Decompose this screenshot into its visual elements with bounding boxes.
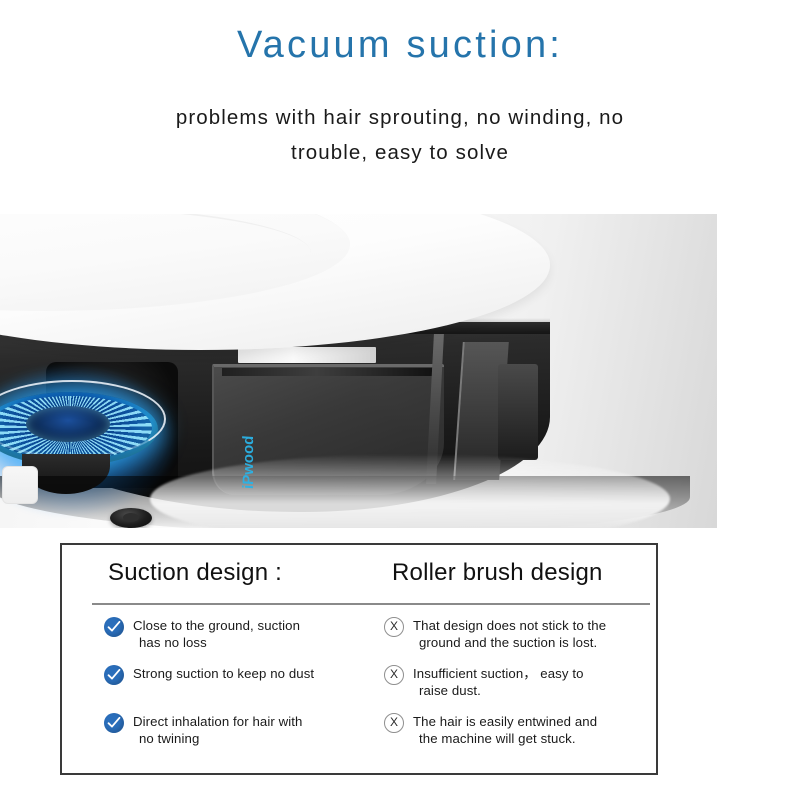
list-item-line-1: Insufficient suction， easy to: [413, 666, 584, 681]
product-marketing-page: Vacuum suction: problems with hair sprou…: [0, 0, 800, 800]
vacuum-side-port: [2, 466, 38, 504]
brand-logo: iPwood: [236, 454, 262, 490]
column-suction: Close to the ground, suction has no loss…: [104, 617, 374, 761]
list-item-text: Close to the ground, suction has no loss: [124, 617, 300, 651]
list-item-text: Strong suction to keep no dust: [124, 665, 314, 682]
cross-icon: X: [384, 713, 404, 733]
list-item: X That design does not stick to the grou…: [384, 617, 648, 651]
list-item-line-2: raise dust.: [413, 682, 584, 699]
photo-right-margin: [717, 214, 800, 528]
list-item-text: Direct inhalation for hair with no twini…: [124, 713, 302, 747]
cross-icon: X: [384, 617, 404, 637]
list-item-text: The hair is easily entwined and the mach…: [404, 713, 597, 747]
list-item-line-2: the machine will get stuck.: [413, 730, 597, 747]
cross-icon: X: [384, 665, 404, 685]
list-item-line-1: The hair is easily entwined and: [413, 714, 597, 729]
list-item-line-1: Close to the ground, suction: [133, 618, 300, 633]
list-item-line-1: Strong suction to keep no dust: [133, 666, 314, 681]
page-title: Vacuum suction:: [0, 22, 800, 68]
dust-bin-bar: [222, 368, 432, 376]
check-icon: [104, 665, 124, 685]
list-item: Direct inhalation for hair with no twini…: [104, 713, 374, 747]
comparison-headers: Suction design : Roller brush design: [62, 559, 660, 599]
list-item-line-2: no twining: [133, 730, 302, 747]
list-item: Strong suction to keep no dust: [104, 665, 374, 699]
list-item-text: Insufficient suction， easy to raise dust…: [404, 665, 584, 699]
product-photo: iPwood: [0, 214, 717, 528]
dust-bin-highlight: [238, 347, 376, 363]
list-item-line-1: Direct inhalation for hair with: [133, 714, 302, 729]
list-item-line-2: ground and the suction is lost.: [413, 634, 606, 651]
subtitle-line-1: problems with hair sprouting, no winding…: [176, 106, 624, 129]
power-button-icon: [110, 508, 152, 528]
column-header-roller-brush: Roller brush design: [392, 559, 603, 587]
list-item: Close to the ground, suction has no loss: [104, 617, 374, 651]
header-divider: [92, 603, 650, 605]
list-item-line-1: That design does not stick to the: [413, 618, 606, 633]
check-icon: [104, 713, 124, 733]
column-header-suction: Suction design :: [108, 559, 282, 587]
chassis-rib-c: [498, 364, 538, 460]
list-item-text: That design does not stick to the ground…: [404, 617, 606, 651]
page-subtitle: problems with hair sprouting, no winding…: [78, 100, 722, 170]
list-item-line-2: has no loss: [133, 634, 300, 651]
list-item: X Insufficient suction， easy to raise du…: [384, 665, 648, 699]
comparison-panel: Suction design : Roller brush design Clo…: [60, 543, 658, 775]
column-roller-brush: X That design does not stick to the grou…: [384, 617, 648, 761]
list-item: X The hair is easily entwined and the ma…: [384, 713, 648, 747]
subtitle-line-2: trouble, easy to solve: [291, 141, 509, 164]
check-icon: [104, 617, 124, 637]
